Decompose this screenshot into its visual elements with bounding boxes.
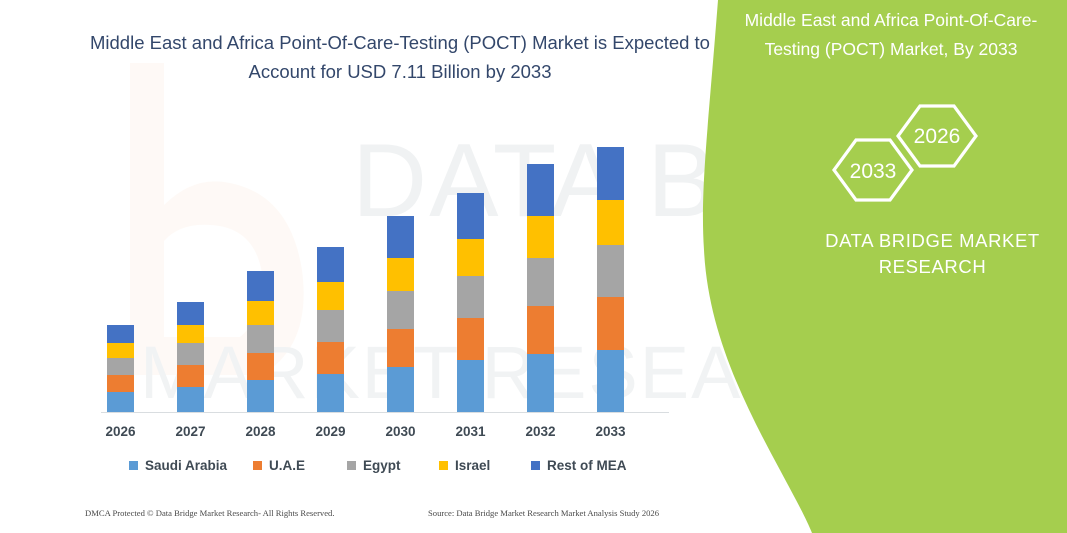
footer-copyright: DMCA Protected © Data Bridge Market Rese… — [85, 508, 335, 518]
legend-item-israel[interactable]: Israel — [439, 454, 490, 476]
legend-swatch-icon — [253, 461, 262, 470]
legend-label: U.A.E — [269, 458, 305, 473]
legend-label: Saudi Arabia — [145, 458, 227, 473]
bar-segment-saudi-arabia-2031 — [457, 360, 484, 412]
bar-segment-saudi-arabia-2029 — [317, 374, 344, 412]
panel-title: Middle East and Africa Point-Of-Care-Tes… — [726, 6, 1056, 64]
legend-label: Rest of MEA — [547, 458, 627, 473]
chart-legend: Saudi ArabiaU.A.EEgyptIsraelRest of MEA — [95, 454, 675, 476]
x-axis-label-2029: 2029 — [301, 424, 361, 439]
bar-group-2028 — [247, 271, 274, 412]
bar-segment-saudi-arabia-2027 — [177, 387, 204, 412]
bar-segment-rest-of-mea-2031 — [457, 193, 484, 239]
bar-segment-egypt-2027 — [177, 343, 204, 365]
bar-segment-israel-2033 — [597, 200, 624, 245]
bar-segment-egypt-2026 — [107, 358, 134, 375]
bar-segment-egypt-2030 — [387, 291, 414, 329]
bar-segment-rest-of-mea-2028 — [247, 271, 274, 301]
bar-segment-egypt-2029 — [317, 310, 344, 342]
bar-group-2032 — [527, 164, 554, 412]
brand-name: DATA BRIDGE MARKET RESEARCH — [790, 228, 1067, 280]
bar-group-2026 — [107, 325, 134, 412]
chart-plot-area — [95, 130, 675, 413]
x-axis-label-2031: 2031 — [441, 424, 501, 439]
bar-segment-israel-2027 — [177, 325, 204, 343]
bar-group-2027 — [177, 302, 204, 412]
bar-segment-israel-2030 — [387, 258, 414, 291]
bar-segment-u-a-e-2028 — [247, 353, 274, 380]
hexagon-badges: 2026 2033 — [812, 92, 992, 217]
bar-group-2031 — [457, 193, 484, 412]
bar-segment-israel-2029 — [317, 282, 344, 310]
bar-segment-u-a-e-2029 — [317, 342, 344, 374]
bar-segment-rest-of-mea-2032 — [527, 164, 554, 216]
bar-segment-saudi-arabia-2030 — [387, 367, 414, 412]
legend-item-rest-of-mea[interactable]: Rest of MEA — [531, 454, 627, 476]
bar-segment-u-a-e-2032 — [527, 306, 554, 354]
bar-segment-israel-2031 — [457, 239, 484, 276]
hexagon-pair-icon: 2026 2033 — [812, 92, 992, 217]
legend-item-saudi-arabia[interactable]: Saudi Arabia — [129, 454, 227, 476]
bar-segment-egypt-2032 — [527, 258, 554, 306]
legend-item-u-a-e[interactable]: U.A.E — [253, 454, 305, 476]
x-axis-label-2032: 2032 — [511, 424, 571, 439]
bar-segment-egypt-2028 — [247, 325, 274, 353]
bar-segment-saudi-arabia-2028 — [247, 380, 274, 412]
legend-item-egypt[interactable]: Egypt — [347, 454, 401, 476]
bar-segment-rest-of-mea-2030 — [387, 216, 414, 258]
x-axis-label-2027: 2027 — [161, 424, 221, 439]
bar-segment-rest-of-mea-2027 — [177, 302, 204, 325]
x-axis-label-2030: 2030 — [371, 424, 431, 439]
legend-swatch-icon — [347, 461, 356, 470]
bar-segment-egypt-2031 — [457, 276, 484, 318]
chart-title: Middle East and Africa Point-Of-Care-Tes… — [70, 28, 730, 86]
bar-segment-israel-2026 — [107, 343, 134, 358]
bar-segment-u-a-e-2030 — [387, 329, 414, 367]
legend-swatch-icon — [531, 461, 540, 470]
bar-segment-saudi-arabia-2026 — [107, 392, 134, 412]
bar-segment-u-a-e-2027 — [177, 365, 204, 387]
bar-group-2029 — [317, 247, 344, 412]
hexagon-2026-label: 2026 — [914, 125, 961, 148]
bar-segment-rest-of-mea-2029 — [317, 247, 344, 282]
bar-segment-israel-2032 — [527, 216, 554, 258]
bar-group-2033 — [597, 147, 624, 412]
x-axis-labels: 20262027202820292030203120322033 — [95, 424, 675, 444]
bar-segment-rest-of-mea-2026 — [107, 325, 134, 343]
bar-segment-saudi-arabia-2033 — [597, 350, 624, 412]
hexagon-2033-label: 2033 — [850, 160, 897, 183]
legend-swatch-icon — [439, 461, 448, 470]
bar-segment-saudi-arabia-2032 — [527, 354, 554, 412]
legend-swatch-icon — [129, 461, 138, 470]
legend-label: Egypt — [363, 458, 401, 473]
bar-segment-u-a-e-2033 — [597, 297, 624, 350]
bar-group-2030 — [387, 216, 414, 412]
x-axis-label-2033: 2033 — [581, 424, 641, 439]
bar-segment-rest-of-mea-2033 — [597, 147, 624, 200]
footer-source: Source: Data Bridge Market Research Mark… — [428, 508, 659, 518]
bar-segment-u-a-e-2031 — [457, 318, 484, 360]
legend-label: Israel — [455, 458, 490, 473]
x-axis-label-2028: 2028 — [231, 424, 291, 439]
infographic-canvas: DATA BRIDGE MARKET RESEARCH Middle East … — [0, 0, 1067, 533]
x-axis-label-2026: 2026 — [91, 424, 151, 439]
x-axis-line — [101, 412, 669, 413]
bar-segment-israel-2028 — [247, 301, 274, 325]
bar-segment-egypt-2033 — [597, 245, 624, 297]
bar-segment-u-a-e-2026 — [107, 375, 134, 392]
